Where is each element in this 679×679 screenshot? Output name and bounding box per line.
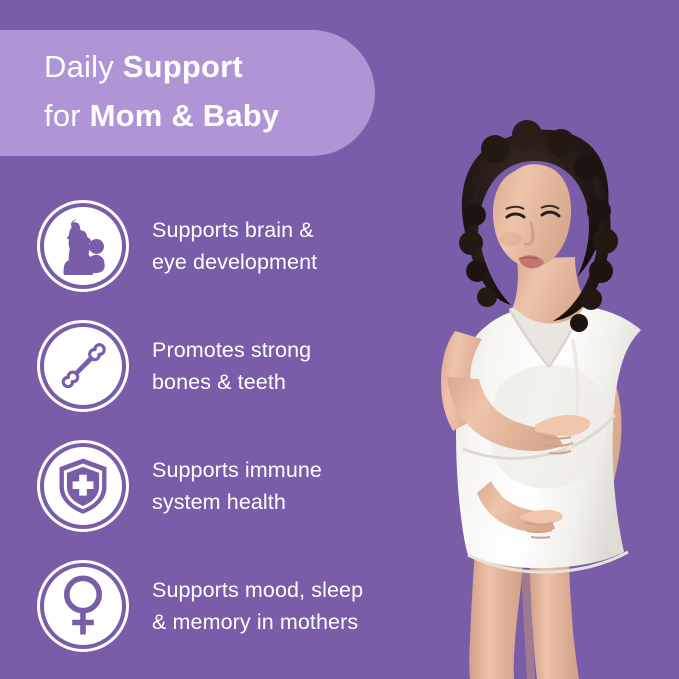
benefit-icon-wrapper (37, 320, 129, 412)
venus-female-symbol-icon (60, 575, 106, 637)
benefit-text-line-1: Promotes strong (152, 334, 311, 366)
benefit-text-line-1: Supports brain & (152, 214, 317, 246)
bone-icon (54, 337, 112, 395)
headline-support: Support (123, 49, 243, 84)
benefit-icon-wrapper (37, 200, 129, 292)
icon-disc (44, 567, 122, 645)
benefit-text-line-2: eye development (152, 246, 317, 278)
benefit-text-line-2: bones & teeth (152, 366, 311, 398)
headline-daily: Daily (44, 49, 123, 84)
benefit-text-line-1: Supports immune (152, 454, 322, 486)
benefit-icon-wrapper (37, 440, 129, 532)
benefit-row: Supports brain & eye development (0, 186, 420, 306)
headline-for: for (44, 98, 90, 133)
headline-line-1: Daily Support (44, 42, 375, 91)
icon-disc (44, 447, 122, 525)
benefit-row: Supports mood, sleep & memory in mothers (0, 546, 420, 666)
icon-disc (44, 327, 122, 405)
headline-mom-and-baby: Mom & Baby (90, 98, 280, 133)
shield-cross-icon (55, 457, 111, 515)
headline-line-2: for Mom & Baby (44, 91, 375, 140)
infographic-panel: Daily Support for Mom & Baby (0, 0, 679, 679)
benefit-text: Supports immune system health (152, 454, 322, 518)
benefit-text-line-1: Supports mood, sleep (152, 574, 363, 606)
benefit-list: Supports brain & eye development (0, 186, 420, 666)
pregnant-woman-photo (359, 119, 679, 679)
benefit-row: Promotes strong bones & teeth (0, 306, 420, 426)
benefit-text-line-2: & memory in mothers (152, 606, 363, 638)
benefit-row: Supports immune system health (0, 426, 420, 546)
benefit-text-line-2: system health (152, 486, 322, 518)
benefit-text: Supports mood, sleep & memory in mothers (152, 574, 363, 638)
icon-disc (44, 207, 122, 285)
benefit-text: Supports brain & eye development (152, 214, 317, 278)
benefit-text: Promotes strong bones & teeth (152, 334, 311, 398)
header-banner: Daily Support for Mom & Baby (0, 30, 375, 156)
mother-and-baby-icon (56, 217, 110, 275)
benefit-icon-wrapper (37, 560, 129, 652)
